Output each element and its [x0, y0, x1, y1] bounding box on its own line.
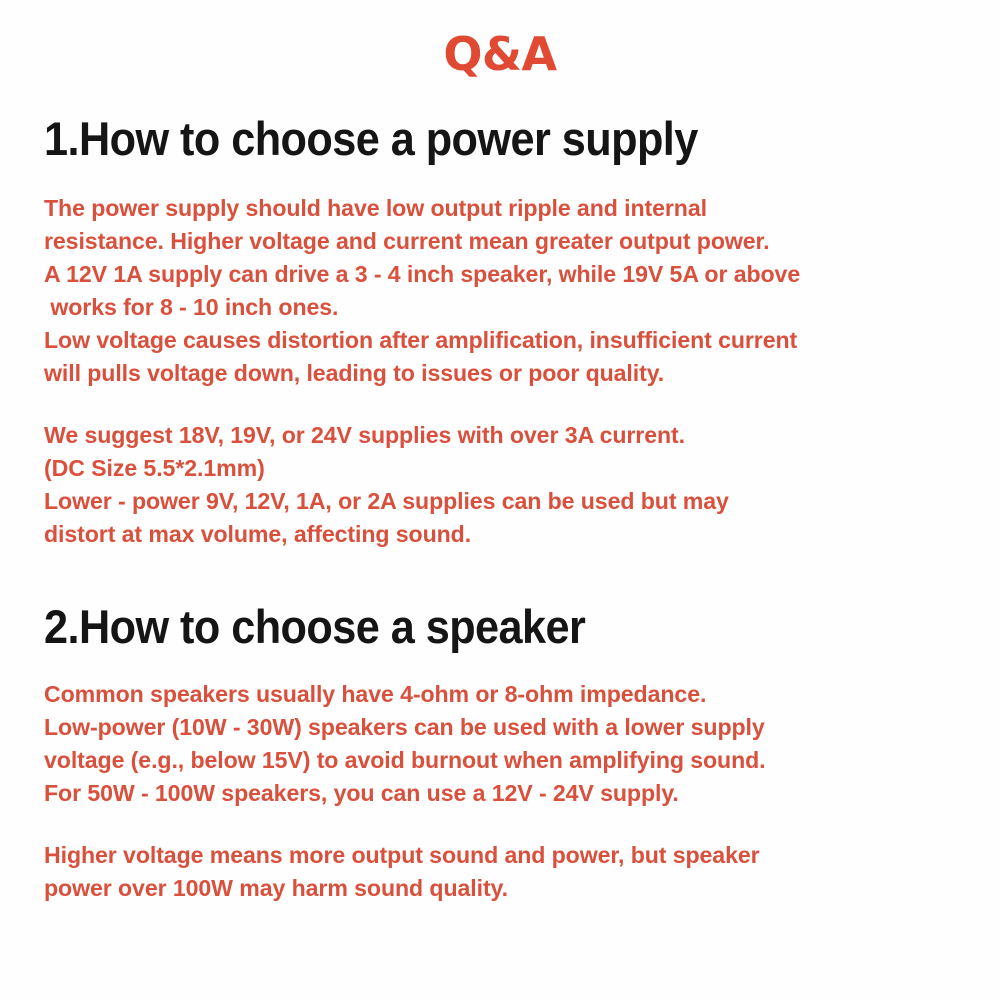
body-line: Low-power (10W - 30W) speakers can be us… — [44, 711, 950, 744]
section-1-block-2: We suggest 18V, 19V, or 24V supplies wit… — [44, 419, 950, 551]
qa-info-page: Q&A 1.How to choose a power supply The p… — [0, 0, 1000, 1000]
section-power-supply: 1.How to choose a power supply The power… — [44, 110, 964, 551]
body-line: We suggest 18V, 19V, or 24V supplies wit… — [44, 419, 950, 452]
section-2-heading: 2.How to choose a speaker — [44, 598, 890, 656]
body-line: works for 8 - 10 inch ones. — [44, 291, 950, 324]
section-1-heading: 1.How to choose a power supply — [44, 110, 890, 168]
section-2-block-2: Higher voltage means more output sound a… — [44, 839, 950, 905]
section-2-block-1: Common speakers usually have 4-ohm or 8-… — [44, 678, 950, 810]
body-line: Lower - power 9V, 12V, 1A, or 2A supplie… — [44, 485, 950, 518]
body-line: Low voltage causes distortion after ampl… — [44, 324, 950, 357]
body-line: Higher voltage means more output sound a… — [44, 839, 950, 872]
paragraph-spacer — [44, 810, 964, 839]
body-line: For 50W - 100W speakers, you can use a 1… — [44, 777, 950, 810]
body-line: A 12V 1A supply can drive a 3 - 4 inch s… — [44, 258, 950, 291]
body-line: voltage (e.g., below 15V) to avoid burno… — [44, 744, 950, 777]
paragraph-spacer — [44, 390, 964, 419]
page-title: Q&A — [0, 28, 1000, 80]
body-line: Common speakers usually have 4-ohm or 8-… — [44, 678, 950, 711]
body-line: (DC Size 5.5*2.1mm) — [44, 452, 950, 485]
section-speaker: 2.How to choose a speaker Common speaker… — [44, 598, 964, 905]
body-line: The power supply should have low output … — [44, 192, 950, 225]
body-line: distort at max volume, affecting sound. — [44, 518, 950, 551]
section-1-block-1: The power supply should have low output … — [44, 192, 950, 390]
body-line: power over 100W may harm sound quality. — [44, 872, 950, 905]
body-line: resistance. Higher voltage and current m… — [44, 225, 950, 258]
body-line: will pulls voltage down, leading to issu… — [44, 357, 950, 390]
